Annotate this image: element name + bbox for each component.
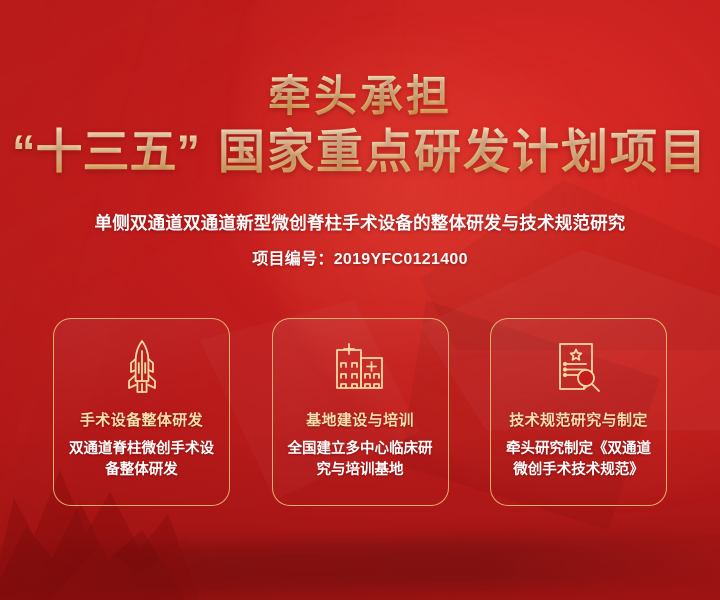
feature-card-standards[interactable]: 技术规范研究与制定 牵头研究制定《双通道微创手术技术规范》 [490,318,667,506]
feature-card-description: 全国建立多中心临床研究与培训基地 [273,439,448,480]
title-line-1: 牵头承担 [0,74,720,120]
promo-banner: 牵头承担 “十三五”国家重点研发计划项目 单侧双通道双通道新型微创脊柱手术设备的… [0,0,720,600]
title-line-2: “十三五”国家重点研发计划项目 [0,126,720,178]
project-number: 项目编号：2019YFC0121400 [0,245,720,269]
feature-card-title: 技术规范研究与制定 [509,409,648,430]
title-main-term: 国家重点研发计划项目 [218,125,708,178]
certificate-search-icon [552,339,606,395]
feature-card-equipment[interactable]: 手术设备整体研发 双通道脊柱微创手术设备整体研发 [53,318,230,506]
feature-card-title: 手术设备整体研发 [80,409,203,430]
feature-card-title: 基地建设与培训 [306,409,414,430]
rocket-icon [115,339,169,395]
title-quoted-term: “十三五” [12,125,200,178]
feature-card-description: 双通道脊柱微创手术设备整体研发 [54,439,229,480]
feature-card-training-base[interactable]: 基地建设与培训 全国建立多中心临床研究与培训基地 [272,318,449,506]
banner-headings: 牵头承担 “十三五”国家重点研发计划项目 [0,74,720,178]
feature-card-description: 牵头研究制定《双通道微创手术技术规范》 [491,439,666,480]
feature-card-list: 手术设备整体研发 双通道脊柱微创手术设备整体研发 [53,318,667,506]
background-sheen-band [0,532,720,600]
hospital-icon [333,339,387,395]
banner-subtitle: 单侧双通道双通道新型微创脊柱手术设备的整体研发与技术规范研究 [0,210,720,235]
